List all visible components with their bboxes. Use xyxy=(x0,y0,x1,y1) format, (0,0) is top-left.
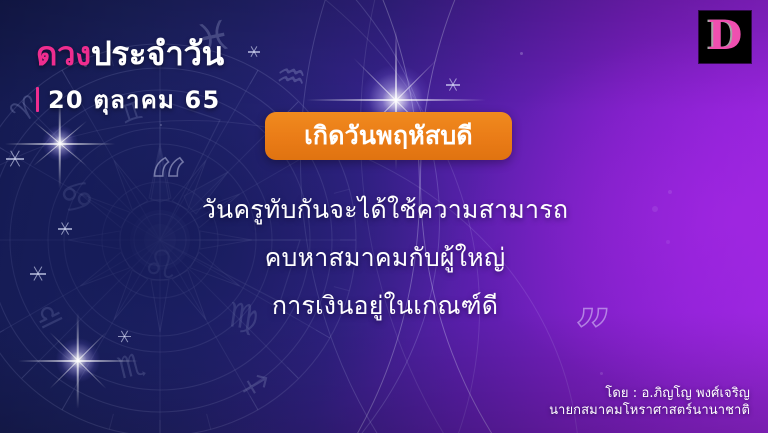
date-text: 20 ตุลาคม 65 xyxy=(48,80,220,119)
page-title-rest: ประจำวัน xyxy=(91,34,224,73)
horoscope-body: วันครูทับกันจะได้ใช้ความสามารถ คบหาสมาคม… xyxy=(150,186,620,330)
horoscope-line: การเงินอยู่ในเกณฑ์ดี xyxy=(150,282,620,330)
brand-logo[interactable]: D xyxy=(699,11,751,63)
author-title: นายกสมาคมโหราศาสตร์นานาชาติ xyxy=(549,402,750,419)
brand-logo-letter: D xyxy=(708,16,743,56)
status-badge[interactable]: เกิดวันพฤหัสบดี xyxy=(265,112,512,160)
author-credit: โดย : อ.ภิญโญ พงศ์เจริญ นายกสมาคมโหราศาส… xyxy=(549,385,750,419)
status-badge-label: เกิดวันพฤหัสบดี xyxy=(304,123,473,148)
author-name: โดย : อ.ภิญโญ พงศ์เจริญ xyxy=(549,385,750,402)
page-title: ดวงประจำวัน xyxy=(36,36,224,73)
date-line: 20 ตุลาคม 65 xyxy=(36,80,220,119)
date-accent-bar xyxy=(36,87,39,112)
horoscope-line: วันครูทับกันจะได้ใช้ความสามารถ xyxy=(150,186,620,234)
page-title-highlight: ดวง xyxy=(36,34,91,73)
horoscope-banner: ♓♒♋♌♍♎♏♈♊♐ xyxy=(0,0,768,433)
horoscope-line: คบหาสมาคมกับผู้ใหญ่ xyxy=(150,234,620,282)
